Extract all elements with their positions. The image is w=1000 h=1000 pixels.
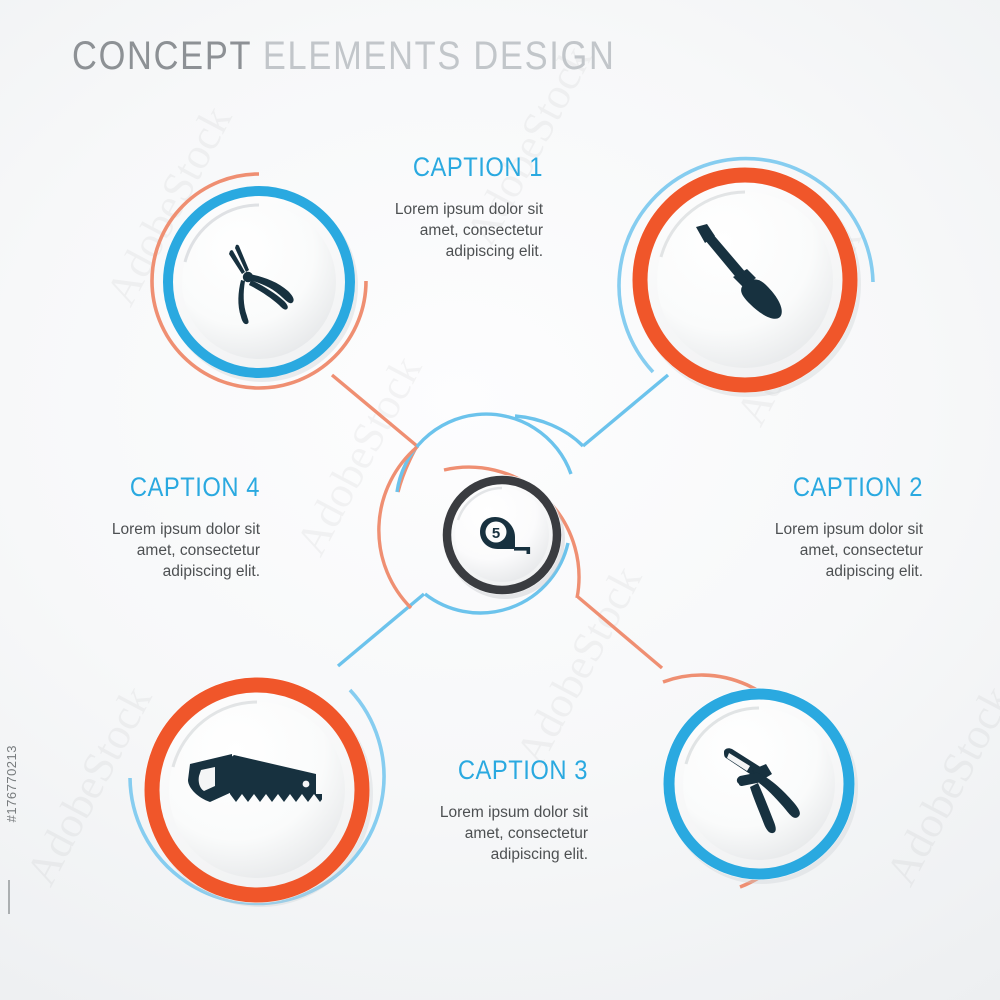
node-handsaw[interactable] (112, 648, 394, 930)
watermark-id: #176770213 (4, 745, 19, 822)
caption-3-title: CAPTION 3 (387, 755, 588, 786)
caption-1-body: Lorem ipsum dolor sit amet, consectetur … (318, 199, 543, 262)
caption-1: CAPTION 1 Lorem ipsum dolor sit amet, co… (318, 152, 543, 262)
caption-2: CAPTION 2 Lorem ipsum dolor sit amet, co… (695, 472, 923, 582)
caption-3: CAPTION 3 Lorem ipsum dolor sit amet, co… (360, 755, 588, 865)
caption-1-title: CAPTION 1 (345, 152, 543, 183)
caption-2-title: CAPTION 2 (722, 472, 923, 503)
caption-2-body: Lorem ipsum dolor sit amet, consectetur … (695, 519, 923, 582)
node-tape-measure[interactable]: 5 (437, 470, 567, 600)
watermark-bar (8, 880, 10, 914)
caption-4: CAPTION 4 Lorem ipsum dolor sit amet, co… (32, 472, 260, 582)
infographic-canvas: AdobeStock AdobeStock AdobeStock AdobeSt… (0, 0, 1000, 1000)
caption-4-body: Lorem ipsum dolor sit amet, consectetur … (32, 519, 260, 582)
node-screwdriver[interactable] (608, 142, 880, 414)
center-arc-salmon-left (379, 447, 417, 608)
connector-salmon-bottomright (578, 597, 662, 668)
connector-salmon-topleft-lower (398, 446, 417, 492)
caption-4-title: CAPTION 4 (59, 472, 260, 503)
caption-3-body: Lorem ipsum dolor sit amet, consectetur … (360, 802, 588, 865)
node-pliers-combo[interactable] (650, 672, 886, 908)
